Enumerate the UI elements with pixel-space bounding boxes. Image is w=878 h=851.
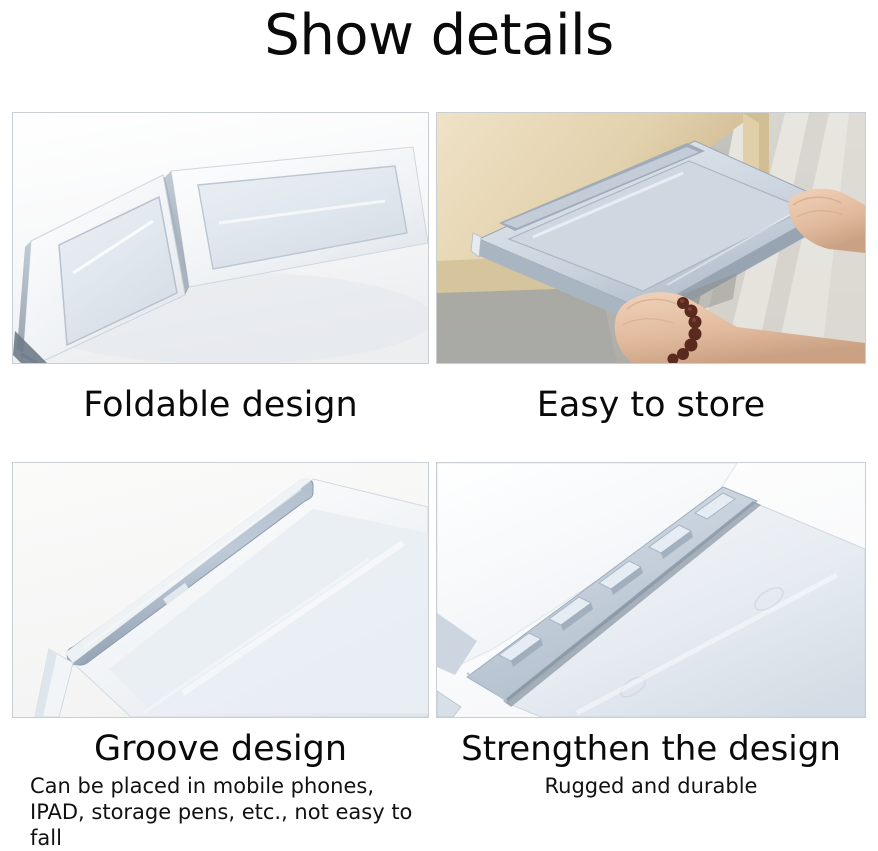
sliding-tray-under-furniture-photo — [436, 112, 866, 364]
caption-block: Easy to store — [436, 364, 866, 426]
caption-block: Foldable design — [12, 364, 429, 426]
groove-channel-closeup-photo — [12, 462, 429, 718]
product-detail-page: Show details — [0, 0, 878, 831]
feature-title: Strengthen the design — [436, 728, 866, 770]
folded-tray-photo — [12, 112, 429, 364]
feature-card-groove-design: Groove design Can be placed in mobile ph… — [12, 462, 429, 851]
caption-block: Strengthen the design Rugged and durable — [436, 718, 866, 799]
feature-subtitle: Rugged and durable — [436, 773, 866, 799]
feature-card-foldable-design: Foldable design — [12, 112, 429, 426]
feature-card-easy-to-store: Easy to store — [436, 112, 866, 426]
page-title: Show details — [0, 2, 878, 70]
feature-title: Easy to store — [436, 384, 866, 426]
caption-block: Groove design Can be placed in mobile ph… — [12, 718, 429, 851]
reinforcement-ribs-closeup-photo — [436, 462, 866, 718]
feature-grid: Foldable design — [0, 112, 878, 831]
feature-title: Groove design — [12, 728, 429, 770]
feature-card-strengthen-the-design: Strengthen the design Rugged and durable — [436, 462, 866, 799]
feature-title: Foldable design — [12, 384, 429, 426]
feature-subtitle: Can be placed in mobile phones, IPAD, st… — [12, 773, 429, 851]
